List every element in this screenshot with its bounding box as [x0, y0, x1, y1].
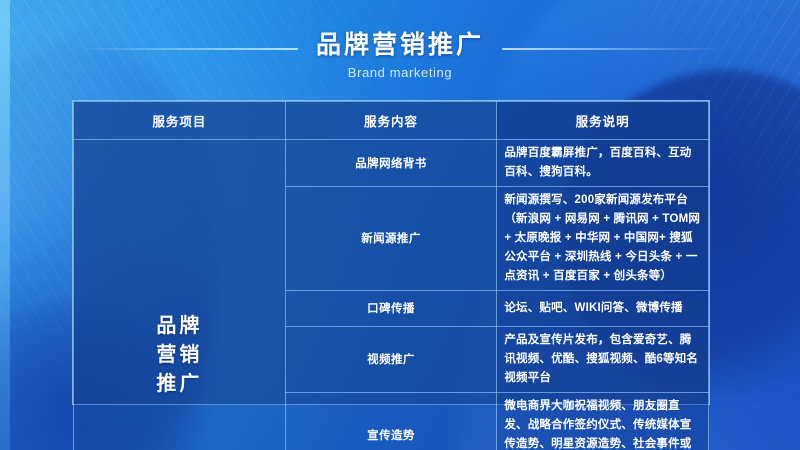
row-item-label: 新闻源推广	[285, 186, 497, 290]
services-table: 服务项目 服务内容 服务说明 品牌 营销 推广 品牌网络背书 品牌百度霸屏推	[73, 101, 709, 450]
row-description: 微电商界大咖祝福视频、朋友圈直发、战略合作签约仪式、传统媒体宣传造势、明星资源造…	[497, 392, 709, 450]
category-line-2: 营销	[74, 341, 285, 370]
row-description: 论坛、贴吧、WIKI问答、微博传播	[497, 290, 709, 326]
page-title-block: 品牌营销推广 Brand marketing	[0, 30, 800, 80]
row-item-label: 品牌网络背书	[285, 140, 497, 187]
row-description: 新闻源撰写、200家新闻源发布平台（新浪网 + 网易网 + 腾讯网 + TOM网…	[497, 186, 709, 290]
category-cell: 品牌 营销 推广	[74, 140, 286, 450]
table-header: 服务项目 服务内容 服务说明	[74, 102, 709, 140]
row-item-label: 视频推广	[285, 326, 497, 392]
row-item-label: 口碑传播	[285, 290, 497, 326]
column-header-service-description: 服务说明	[497, 102, 709, 140]
category-line-3: 推广	[74, 370, 285, 399]
row-item-label: 宣传造势	[285, 392, 497, 450]
category-line-1: 品牌	[74, 312, 285, 341]
column-header-service-item: 服务项目	[74, 102, 286, 140]
table-header-row: 服务项目 服务内容 服务说明	[74, 102, 709, 140]
slide-canvas: 品牌营销推广 Brand marketing 服务项目 服务内容 服务说明 品牌…	[0, 0, 800, 450]
row-description: 品牌百度霸屏推广，百度百科、互动百科、搜狗百科。	[497, 140, 709, 187]
table-row: 品牌 营销 推广 品牌网络背书 品牌百度霸屏推广，百度百科、互动百科、搜狗百科。	[74, 140, 709, 187]
column-header-service-content: 服务内容	[285, 102, 497, 140]
row-description: 产品及宣传片发布，包含爱奇艺、腾讯视频、优酷、搜狐视频、酷6等知名视频平台	[497, 326, 709, 392]
page-subtitle: Brand marketing	[0, 65, 800, 80]
table-body: 品牌 营销 推广 品牌网络背书 品牌百度霸屏推广，百度百科、互动百科、搜狗百科。…	[74, 140, 709, 450]
category-stacked-label: 品牌 营销 推广	[74, 312, 285, 399]
page-title: 品牌营销推广	[0, 30, 800, 61]
services-table-wrapper: 服务项目 服务内容 服务说明 品牌 营销 推广 品牌网络背书 品牌百度霸屏推	[72, 100, 710, 405]
